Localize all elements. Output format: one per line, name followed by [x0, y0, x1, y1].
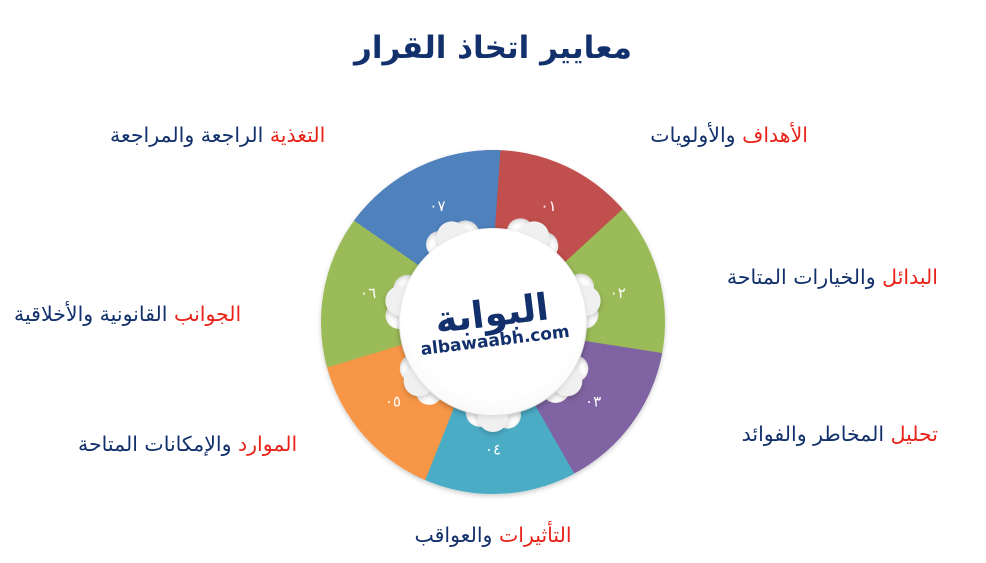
segment-label-01-rest: والأولويات — [650, 123, 735, 147]
segment-label-05-highlight: الموارد — [238, 432, 297, 456]
piece-number-06: ٠٦ — [360, 284, 376, 302]
segment-label-04: التأثيرات والعواقب — [0, 523, 986, 547]
segment-label-02-highlight: البدائل — [882, 265, 938, 289]
segment-label-05-rest: والإمكانات المتاحة — [78, 432, 232, 456]
piece-number-01: ٠١ — [540, 197, 556, 215]
piece-number-07: ٠٧ — [429, 197, 445, 215]
segment-label-07-rest: الراجعة والمراجعة — [110, 123, 263, 147]
piece-number-02: ٠٢ — [610, 284, 626, 302]
center-logo: البوابة albawaabh.com — [400, 229, 586, 415]
segment-label-06-rest: القانونية والأخلاقية — [14, 302, 167, 326]
segment-label-06: الجوانب القانونية والأخلاقية — [14, 302, 241, 326]
page-title: معايير اتخاذ القرار — [0, 30, 986, 66]
segment-label-05: الموارد والإمكانات المتاحة — [78, 432, 297, 456]
segment-label-02-rest: والخيارات المتاحة — [727, 265, 876, 289]
segment-label-04-rest: والعواقب — [414, 523, 492, 547]
segment-label-07-highlight: التغذية — [270, 123, 325, 147]
puzzle-wheel-diagram: ٠١ ٠٢ ٠٣ ٠٤ ٠٥ ٠٦ ٠٧ البوابة albawaabh.c… — [293, 122, 693, 522]
segment-label-01: الأهداف والأولويات — [650, 123, 808, 147]
piece-number-05: ٠٥ — [385, 392, 401, 410]
segment-label-03: تحليل المخاطر والفوائد — [742, 422, 938, 446]
segment-label-03-rest: المخاطر والفوائد — [742, 422, 884, 446]
segment-label-02: البدائل والخيارات المتاحة — [727, 265, 938, 289]
segment-label-01-highlight: الأهداف — [742, 123, 808, 147]
segment-label-03-highlight: تحليل — [891, 422, 938, 446]
segment-label-06-highlight: الجوانب — [174, 302, 241, 326]
segment-label-07: التغذية الراجعة والمراجعة — [110, 123, 325, 147]
piece-number-03: ٠٣ — [585, 392, 601, 410]
segment-label-04-highlight: التأثيرات — [499, 523, 572, 547]
piece-number-04: ٠٤ — [485, 441, 501, 459]
